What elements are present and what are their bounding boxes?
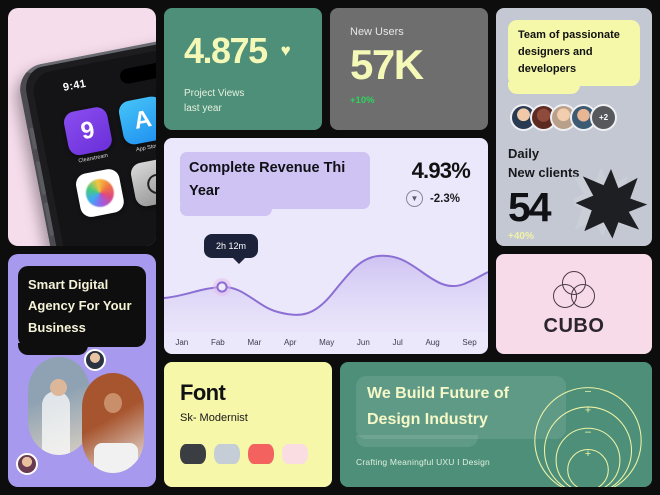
font-card-subtitle: Sk- Modernist [180,412,316,424]
cubo-logo-card[interactable]: CUBO [496,254,652,354]
chart-tooltip: 2h 12m [204,234,258,258]
venn-circles-icon [553,271,595,309]
photo-woman-headset [82,373,144,473]
status-bar-time: 9:41 [62,78,87,94]
agency-headline: Smart Digital Agency For Your Business [18,266,146,347]
team-card[interactable]: Team of passionate designers and develop… [496,8,652,246]
moodboard-grid: 9:41 9 Clearstream A App Store [0,0,660,495]
photo-woman-phone [28,357,90,455]
caption-line-2: last year [184,102,302,117]
concentric-rings-graphic: – + – + [530,373,646,487]
clearstream-app-icon[interactable]: 9 [62,105,114,157]
x-tick: Apr [284,338,296,347]
x-tick: Mar [247,338,261,347]
home-screen-app-grid: 9 Clearstream A App Store [62,95,156,222]
revenue-chart-area[interactable]: 2h 12m Jan Fab Mar Apr May Jun Jul Aug S… [164,232,488,354]
views-value-row: 4.875 ♥ [184,30,302,72]
team-headline: Team of passionate designers and develop… [508,20,640,86]
x-tick: Sep [462,338,476,347]
star-burst-icon [574,166,648,240]
chart-area-fill [164,256,488,332]
x-tick: Jul [393,338,403,347]
daily-line-1: Daily [508,145,640,164]
x-tick: Fab [211,338,225,347]
chart-x-axis-labels: Jan Fab Mar Apr May Jun Jul Aug Sep [164,338,488,347]
color-swatch[interactable] [282,444,308,464]
app-item[interactable]: A App Store [117,95,156,155]
revenue-change-row: ▼ -2.3% [406,190,460,207]
phone-dynamic-island [119,60,156,85]
chevron-down-circle-icon: ▼ [406,190,423,207]
app-store-icon[interactable]: A [117,95,156,147]
revenue-change-value: -2.3% [430,193,460,205]
revenue-percent: 4.93% [412,158,470,184]
x-tick: May [319,338,334,347]
agency-promo-card[interactable]: Smart Digital Agency For Your Business [8,254,156,487]
new-users-label: New Users [350,26,468,38]
cubo-wordmark: CUBO [544,315,605,338]
project-views-value: 4.875 [184,30,267,72]
team-avatar-stack[interactable]: +2 [508,104,640,131]
color-swatch[interactable] [214,444,240,464]
agency-photo-collage [18,351,148,479]
camera-app-icon[interactable] [129,157,156,209]
new-users-delta-badge: +10% [350,95,468,106]
chart-highlight-point[interactable] [217,282,226,291]
x-tick: Aug [425,338,439,347]
color-swatch-row [180,444,316,464]
font-card-title: Font [180,380,316,406]
ring-symbol: + [585,405,591,417]
phone-mute-switch [29,128,37,150]
new-users-value: 57K [350,41,468,89]
new-users-card[interactable]: New Users 57K +10% [330,8,488,130]
phone-showcase-card[interactable]: 9:41 9 Clearstream A App Store [8,8,156,246]
phone-volume-down-button [44,202,54,236]
iphone-mockup: 9:41 9 Clearstream A App Store [16,35,156,246]
photos-app-icon[interactable] [74,167,126,219]
ring-symbol: – [585,385,591,397]
revenue-title: Complete Revenue Thi Year [180,152,370,209]
avatar[interactable] [84,349,106,371]
app-item[interactable]: 9 Clearstream [62,105,115,165]
avatar-overflow-badge[interactable]: +2 [590,104,617,131]
project-views-card[interactable]: 4.875 ♥ Project Views last year [164,8,322,130]
project-views-caption: Project Views last year [184,87,302,116]
heart-icon: ♥ [281,41,291,61]
avatar[interactable] [16,453,38,475]
x-tick: Jan [175,338,188,347]
color-swatch[interactable] [248,444,274,464]
revenue-header: Complete Revenue Thi Year 4.93% ▼ -2.3% [164,138,488,209]
revenue-chart-card[interactable]: Complete Revenue Thi Year 4.93% ▼ -2.3% [164,138,488,354]
app-item[interactable] [129,157,156,212]
caption-line-1: Project Views [184,87,302,102]
phone-volume-up-button [36,161,46,195]
color-swatch[interactable] [180,444,206,464]
x-tick: Jun [357,338,370,347]
build-future-card[interactable]: We Build Future of Design Industry Craft… [340,362,652,487]
app-item[interactable] [74,167,126,222]
ring-symbol: – [585,426,591,438]
ring-symbol: + [585,448,591,460]
font-specimen-card[interactable]: Font Sk- Modernist [164,362,332,487]
